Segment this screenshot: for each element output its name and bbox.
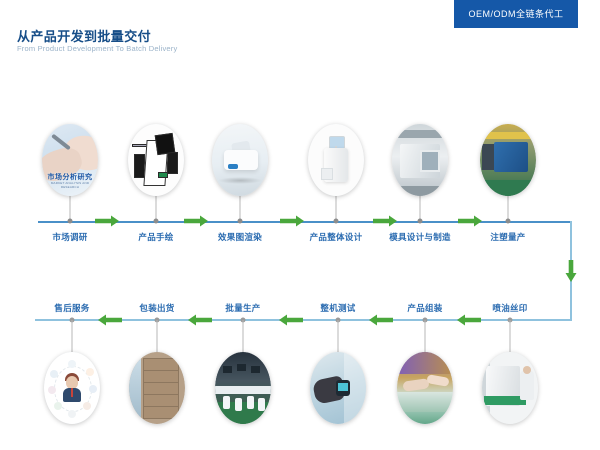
stage-image-product-sketch bbox=[128, 124, 184, 196]
arrow-left-icon bbox=[188, 315, 212, 326]
node-stem bbox=[72, 320, 73, 352]
stage-label-after-sales: 售后服务 bbox=[54, 302, 89, 314]
stage-image-mass-production bbox=[215, 352, 271, 424]
arrow-left-icon bbox=[279, 315, 303, 326]
stage-image-spray-print bbox=[482, 352, 538, 424]
stage-label-product-sketch: 产品手绘 bbox=[138, 231, 173, 243]
arrow-right-icon bbox=[184, 216, 208, 227]
stage-label-injection-molding: 注塑量产 bbox=[490, 231, 525, 243]
stage-image-packaging bbox=[129, 352, 185, 424]
timeline-node bbox=[154, 219, 159, 224]
node-stem bbox=[510, 320, 511, 352]
arrow-left-icon bbox=[457, 315, 481, 326]
arrow-right-icon bbox=[373, 216, 397, 227]
oem-odm-badge: OEM/ODM全链条代工 bbox=[455, 0, 577, 27]
slide-canvas: OEM/ODM全链条代工 从产品开发到批量交付 From Product Dev… bbox=[0, 0, 600, 450]
arrow-left-icon bbox=[369, 315, 393, 326]
stage-image-injection-molding bbox=[480, 124, 536, 196]
node-stem bbox=[338, 320, 339, 352]
node-stem bbox=[243, 320, 244, 352]
stage-label-market-research: 市场调研 bbox=[52, 231, 87, 243]
arrow-left-icon bbox=[98, 315, 122, 326]
stage-image-device-testing bbox=[310, 352, 366, 424]
stage-label-rendering: 效果图渲染 bbox=[218, 231, 262, 243]
node-stem bbox=[425, 320, 426, 352]
node-stem bbox=[157, 320, 158, 352]
arrow-right-icon bbox=[458, 216, 482, 227]
stage-label-mold-manufacturing: 模具设计与制造 bbox=[389, 231, 451, 243]
stage-label-assembly: 产品组装 bbox=[407, 302, 442, 314]
timeline-node bbox=[238, 219, 243, 224]
stage-label-spray-print: 喷油丝印 bbox=[492, 302, 527, 314]
arrow-right-icon bbox=[280, 216, 304, 227]
timeline-node bbox=[334, 219, 339, 224]
stage-image-mold-manufacturing bbox=[392, 124, 448, 196]
page-title: 从产品开发到批量交付 bbox=[17, 26, 151, 45]
stage-image-assembly bbox=[397, 352, 453, 424]
timeline-node bbox=[506, 219, 511, 224]
stage-label-mass-production: 批量生产 bbox=[225, 302, 260, 314]
arrow-right-icon bbox=[95, 216, 119, 227]
page-subtitle: From Product Development To Batch Delive… bbox=[17, 44, 177, 53]
arrow-down-icon bbox=[566, 260, 577, 282]
timeline-node bbox=[68, 219, 73, 224]
stage-image-overall-design bbox=[308, 124, 364, 196]
stage-label-overall-design: 产品整体设计 bbox=[310, 231, 363, 243]
stage-image-after-sales bbox=[44, 352, 100, 424]
timeline-node bbox=[418, 219, 423, 224]
stage-image-rendering bbox=[212, 124, 268, 196]
stage-image-market-research: 市场分析研究 MARKET ANALYSIS AND RESEARCH bbox=[42, 124, 98, 196]
stage-label-packaging: 包装出货 bbox=[139, 302, 174, 314]
photo-overlay-subtitle: MARKET ANALYSIS AND RESEARCH bbox=[42, 181, 98, 189]
stage-label-device-testing: 整机测试 bbox=[320, 302, 355, 314]
